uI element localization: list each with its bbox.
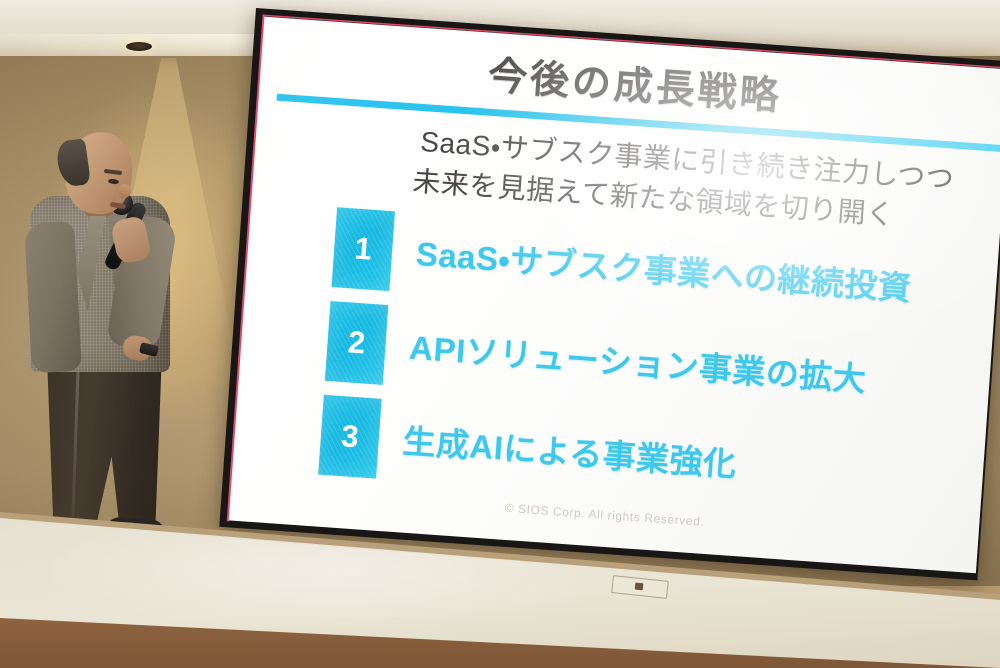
strategy-point-list: 1 SaaS・サブスク事業への継続投資 2 APIソリューション事業の拡大 3 — [317, 207, 1000, 538]
point-number-badge-2: 2 — [325, 301, 389, 385]
point-number-2: 2 — [347, 324, 367, 361]
point-number-3: 3 — [340, 418, 360, 455]
point-text-3: 生成AIによる事業強化 — [401, 415, 738, 487]
point-number-badge-3: 3 — [318, 395, 382, 479]
projection-screen[interactable]: 今後の成長戦略 SaaS・サブスク事業に引き続き注力しつつ 未来を見据えて新たな… — [217, 8, 1000, 608]
point-number-badge-1: 1 — [331, 207, 395, 291]
point-text-1: SaaS・サブスク事業への継続投資 — [415, 227, 914, 310]
presenter-arm-left — [24, 221, 82, 373]
presenter-hair-side — [55, 138, 91, 188]
presenter-trousers — [42, 352, 162, 542]
presentation-photo-scene: 今後の成長戦略 SaaS・サブスク事業に引き続き注力しつつ 未来を見据えて新たな… — [0, 0, 1000, 668]
point-number-1: 1 — [353, 231, 373, 268]
slide-canvas[interactable]: 今後の成長戦略 SaaS・サブスク事業に引き続き注力しつつ 未来を見据えて新たな… — [229, 17, 1000, 574]
screen-frame: 今後の成長戦略 SaaS・サブスク事業に引き続き注力しつつ 未来を見据えて新たな… — [219, 8, 1000, 580]
